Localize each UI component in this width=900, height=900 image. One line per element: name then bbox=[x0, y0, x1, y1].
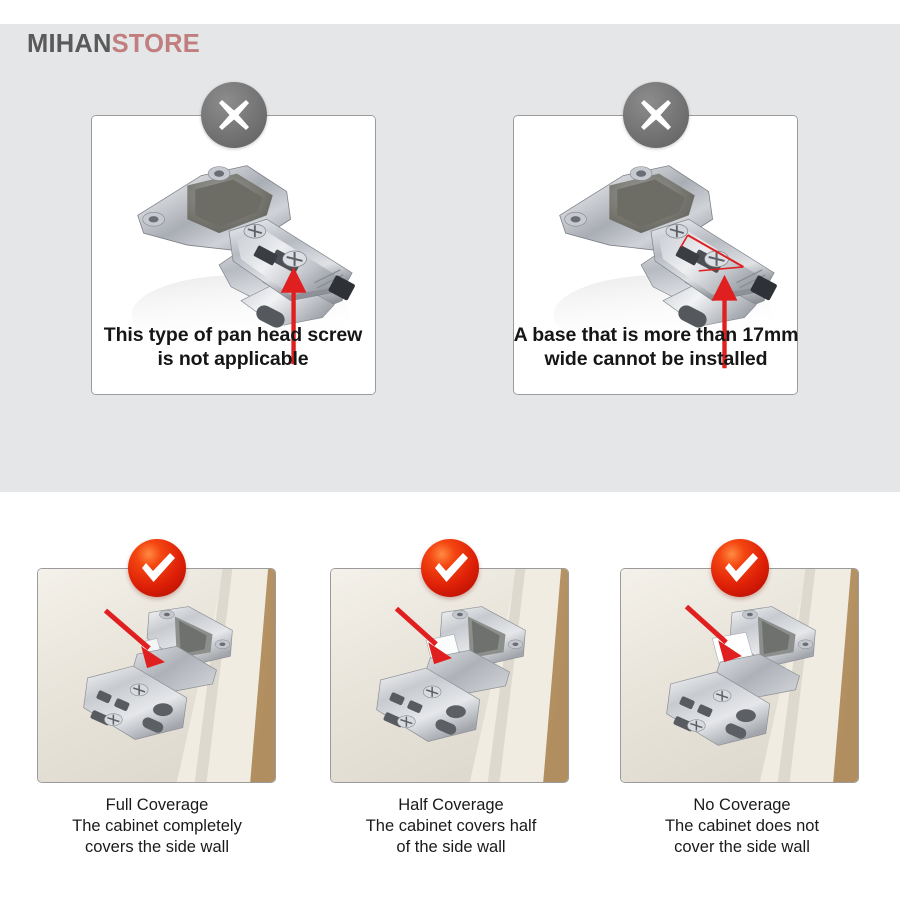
caption-half-coverage: Half Coverage The cabinet covers half of… bbox=[306, 795, 596, 858]
caption-line-2: wide cannot be installed bbox=[446, 348, 866, 372]
coverage-title: Half Coverage bbox=[306, 795, 596, 816]
brand-logo-part1: MIHAN bbox=[27, 30, 112, 58]
brand-logo-part2: STORE bbox=[112, 30, 200, 58]
coverage-sub-line-1: The cabinet covers half bbox=[306, 816, 596, 837]
coverage-sub-line-1: The cabinet does not bbox=[597, 816, 887, 837]
cross-mark-icon bbox=[201, 82, 267, 148]
caption-base-width: A base that is more than 17mm wide canno… bbox=[446, 324, 866, 372]
check-mark-icon bbox=[128, 539, 186, 597]
caption-line-1: This type of pan head screw bbox=[23, 324, 443, 348]
coverage-card-none bbox=[620, 568, 859, 783]
infographic-page: MIHANSTORE bbox=[0, 0, 900, 900]
bottom-coverage-section: Full Coverage The cabinet completely cov… bbox=[0, 492, 900, 900]
caption-line-1: A base that is more than 17mm bbox=[446, 324, 866, 348]
coverage-sub-line-2: of the side wall bbox=[306, 837, 596, 858]
half-coverage-hinge-installation-photo bbox=[330, 568, 569, 783]
coverage-sub-line-2: cover the side wall bbox=[597, 837, 887, 858]
coverage-title: No Coverage bbox=[597, 795, 887, 816]
top-incompatible-section: MIHANSTORE bbox=[0, 24, 900, 492]
coverage-sub-line-2: covers the side wall bbox=[12, 837, 302, 858]
coverage-sub-line-1: The cabinet completely bbox=[12, 816, 302, 837]
coverage-title: Full Coverage bbox=[12, 795, 302, 816]
no-coverage-hinge-installation-photo bbox=[620, 568, 859, 783]
full-coverage-hinge-installation-photo bbox=[37, 568, 276, 783]
cross-mark-icon bbox=[623, 82, 689, 148]
caption-full-coverage: Full Coverage The cabinet completely cov… bbox=[12, 795, 302, 858]
caption-pan-head-screw: This type of pan head screw is not appli… bbox=[23, 324, 443, 372]
coverage-card-half bbox=[330, 568, 569, 783]
brand-logo: MIHANSTORE bbox=[27, 30, 200, 59]
caption-line-2: is not applicable bbox=[23, 348, 443, 372]
coverage-card-full bbox=[37, 568, 276, 783]
check-mark-icon bbox=[421, 539, 479, 597]
caption-no-coverage: No Coverage The cabinet does not cover t… bbox=[597, 795, 887, 858]
check-mark-icon bbox=[711, 539, 769, 597]
